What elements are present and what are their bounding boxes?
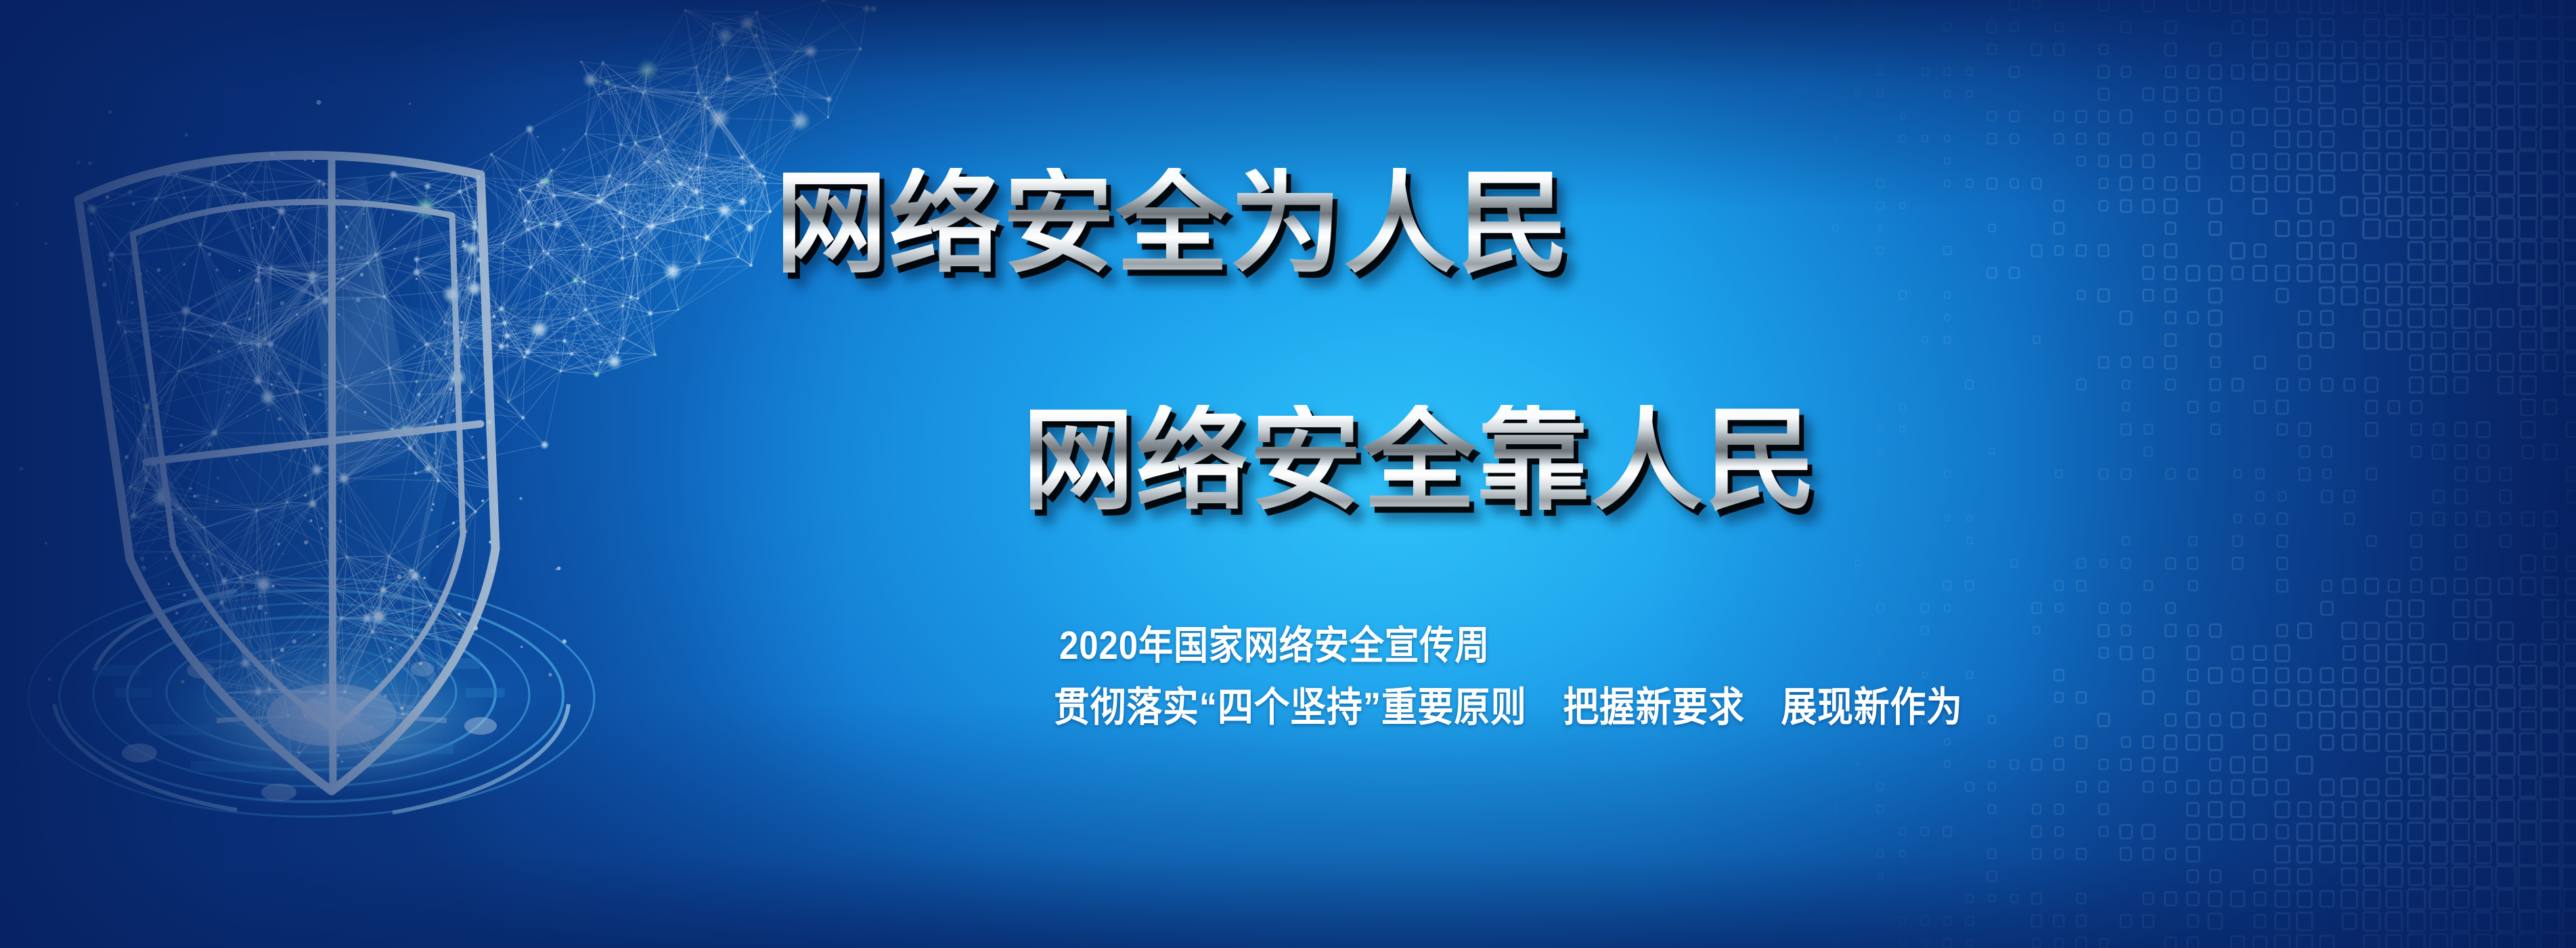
subtitle-line-2: 贯彻落实“四个坚持”重要原则 把握新要求 展现新作为	[1054, 674, 1963, 733]
digital-square-grid	[1831, 0, 2576, 948]
poster-canvas: 网络安全为人民 网络安全靠人民 2020年国家网络安全宣传周 贯彻落实“四个坚持…	[0, 0, 2576, 948]
title-line-1: 网络安全为人民	[775, 168, 1571, 280]
network-shield-graphic	[14, 74, 623, 860]
square-grid-svg	[1831, 0, 2576, 948]
subtitle-line-1: 2020年国家网络安全宣传周	[1059, 613, 1490, 670]
shield-svg	[14, 74, 623, 860]
title-line-2: 网络安全靠人民	[1022, 405, 1818, 517]
